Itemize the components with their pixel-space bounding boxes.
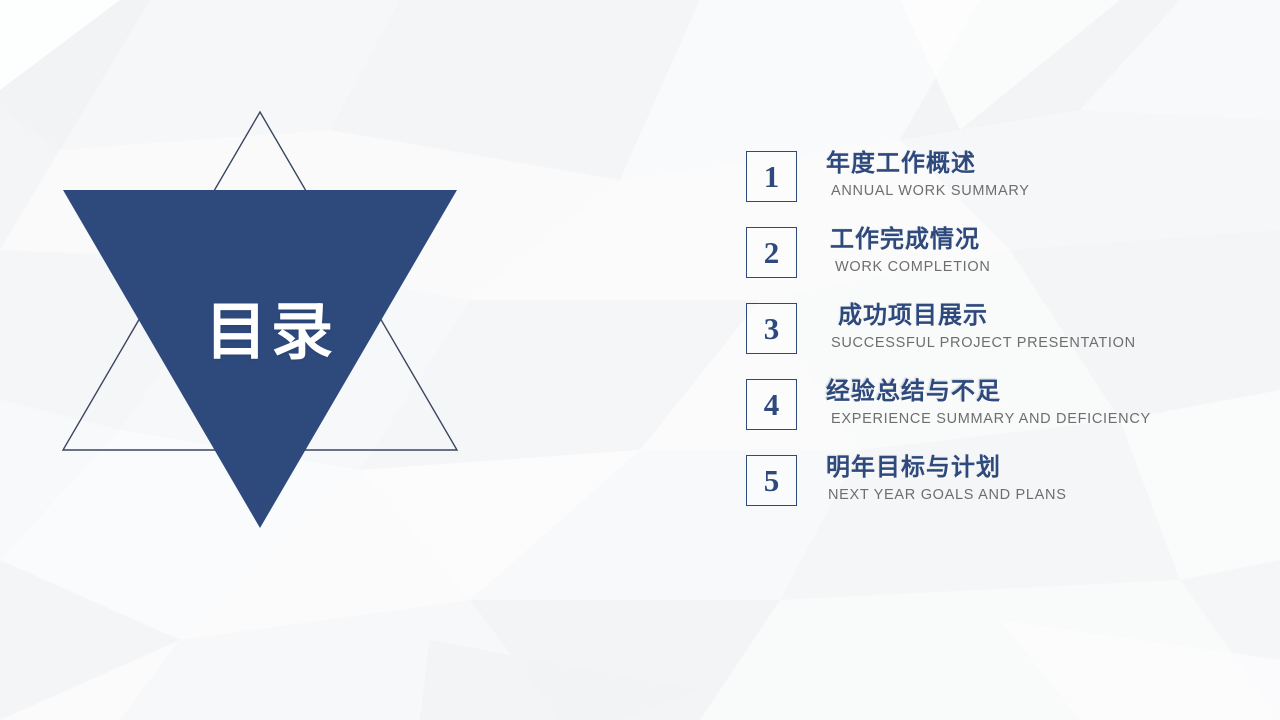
filled-triangle-down — [63, 190, 457, 528]
agenda-number-4: 4 — [764, 389, 780, 420]
agenda-title-3: 成功项目展示 — [838, 302, 1136, 330]
agenda-number-5: 5 — [764, 465, 780, 496]
agenda-title-5: 明年目标与计划 — [826, 454, 1067, 482]
agenda-subtitle-1: ANNUAL WORK SUMMARY — [831, 183, 1030, 200]
agenda-subtitle-3: SUCCESSFUL PROJECT PRESENTATION — [831, 335, 1136, 352]
agenda-item-4[interactable]: 4 经验总结与不足 EXPERIENCE SUMMARY AND DEFICIE… — [746, 378, 1246, 434]
agenda-text-5: 明年目标与计划 NEXT YEAR GOALS AND PLANS — [826, 454, 1067, 504]
agenda-title-4: 经验总结与不足 — [826, 378, 1151, 406]
agenda-subtitle-5: NEXT YEAR GOALS AND PLANS — [828, 487, 1067, 504]
agenda-text-4: 经验总结与不足 EXPERIENCE SUMMARY AND DEFICIENC… — [826, 378, 1151, 428]
agenda-item-1[interactable]: 1 年度工作概述 ANNUAL WORK SUMMARY — [746, 150, 1246, 206]
agenda-title-2: 工作完成情况 — [830, 226, 991, 254]
agenda-item-3[interactable]: 3 成功项目展示 SUCCESSFUL PROJECT PRESENTATION — [746, 302, 1246, 358]
agenda-number-box-2: 2 — [746, 227, 797, 278]
agenda-text-3: 成功项目展示 SUCCESSFUL PROJECT PRESENTATION — [826, 302, 1136, 352]
agenda-subtitle-4: EXPERIENCE SUMMARY AND DEFICIENCY — [831, 411, 1151, 428]
agenda-item-2[interactable]: 2 工作完成情况 WORK COMPLETION — [746, 226, 1246, 282]
agenda-number-box-4: 4 — [746, 379, 797, 430]
presentation-slide: 目录 1 年度工作概述 ANNUAL WORK SUMMARY 2 工作完成情况… — [0, 0, 1280, 720]
agenda-item-5[interactable]: 5 明年目标与计划 NEXT YEAR GOALS AND PLANS — [746, 454, 1246, 510]
agenda-number-2: 2 — [764, 237, 780, 268]
logo-star-mark — [40, 95, 500, 555]
agenda-subtitle-2: WORK COMPLETION — [835, 259, 991, 276]
agenda-number-box-1: 1 — [746, 151, 797, 202]
agenda-text-2: 工作完成情况 WORK COMPLETION — [826, 226, 991, 276]
agenda-number-1: 1 — [764, 161, 780, 192]
agenda-list: 1 年度工作概述 ANNUAL WORK SUMMARY 2 工作完成情况 WO… — [746, 150, 1246, 510]
agenda-title-1: 年度工作概述 — [826, 150, 1030, 178]
agenda-number-box-5: 5 — [746, 455, 797, 506]
agenda-number-3: 3 — [764, 313, 780, 344]
agenda-number-box-3: 3 — [746, 303, 797, 354]
agenda-text-1: 年度工作概述 ANNUAL WORK SUMMARY — [826, 150, 1030, 200]
